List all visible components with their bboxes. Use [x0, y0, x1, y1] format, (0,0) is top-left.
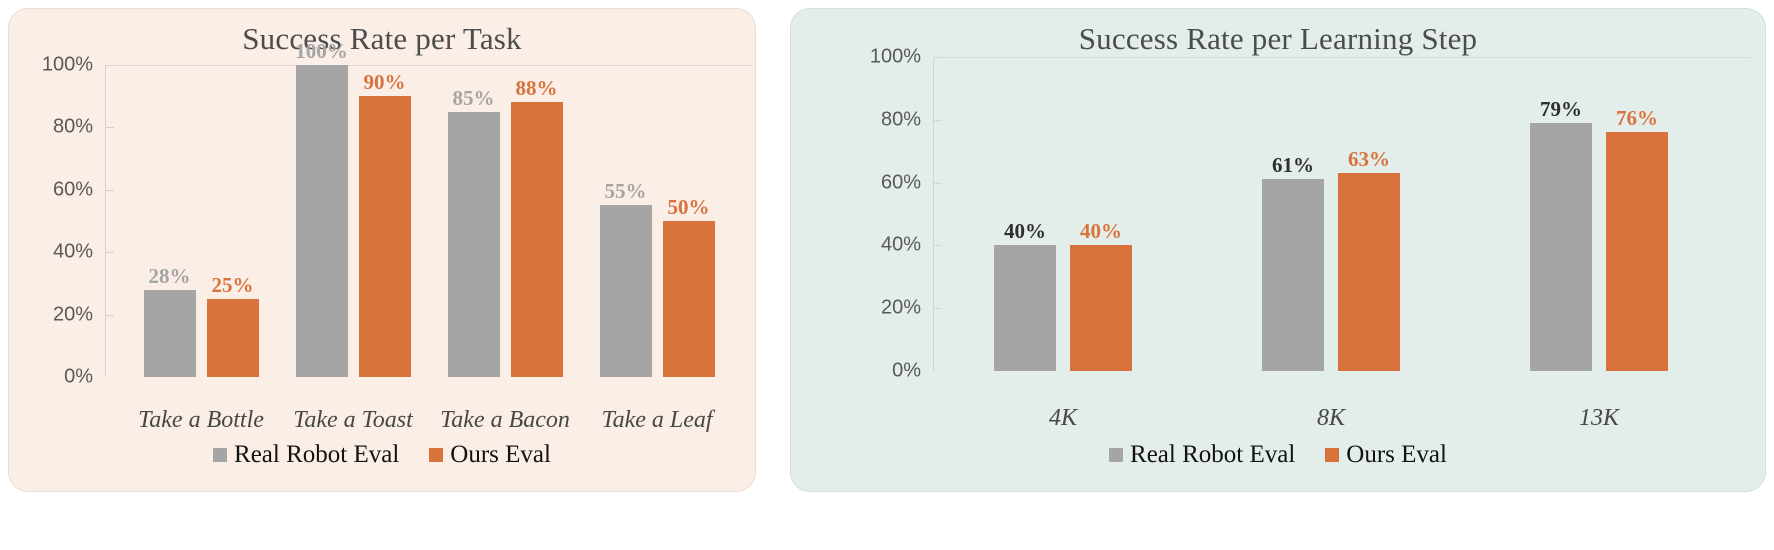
bar-value-label: 79%: [1540, 97, 1582, 122]
bar-value-label: 61%: [1272, 153, 1314, 178]
bar-ours-eval[interactable]: [1070, 245, 1132, 371]
x-axis-category-label: 4K: [1049, 405, 1077, 432]
bar-value-label: 40%: [1080, 219, 1122, 244]
legend-swatch-gray-icon: [1109, 448, 1123, 462]
y-axis-tick-label: 40%: [53, 241, 93, 264]
legend-label-ours-eval: Ours Eval: [450, 441, 551, 469]
bar-value-label: 88%: [516, 76, 558, 101]
bar-real-robot-eval[interactable]: [296, 65, 348, 377]
y-axis-tick-label: 80%: [53, 116, 93, 139]
bar-value-label: 50%: [668, 195, 710, 220]
y-axis-tick-label: 60%: [881, 171, 921, 194]
bar-real-robot-eval[interactable]: [1262, 179, 1324, 371]
bar-value-label: 25%: [212, 273, 254, 298]
y-axis-tick: [933, 57, 942, 58]
y-axis-tick-label: 0%: [892, 360, 921, 383]
legend-item-ours-eval[interactable]: Ours Eval: [1325, 441, 1447, 469]
x-axis-category-label: 13K: [1579, 405, 1619, 432]
y-axis-tick: [933, 308, 942, 309]
x-axis-baseline: [933, 57, 1751, 58]
bar-ours-eval[interactable]: [359, 96, 411, 377]
chart-panel-success-rate-per-learning-step: Success Rate per Learning Step 100%80%60…: [790, 8, 1766, 492]
y-axis-tick-label: 100%: [42, 54, 93, 77]
legend-swatch-orange-icon: [429, 448, 443, 462]
bar-ours-eval[interactable]: [1338, 173, 1400, 371]
bar-value-label: 63%: [1348, 147, 1390, 172]
figure-root: Success Rate per Task 100%80%60%40%20%0%…: [0, 0, 1774, 550]
bar-ours-eval[interactable]: [207, 299, 259, 377]
legend-label-real-robot-eval: Real Robot Eval: [234, 441, 399, 469]
legend-swatch-orange-icon: [1325, 448, 1339, 462]
y-axis-line: [933, 57, 934, 371]
y-axis-tick-label: 100%: [870, 46, 921, 69]
bar-real-robot-eval[interactable]: [448, 112, 500, 377]
bar-value-label: 55%: [605, 179, 647, 204]
bar-ours-eval[interactable]: [663, 221, 715, 377]
y-axis-line: [105, 65, 106, 377]
bar-value-label: 100%: [295, 39, 348, 64]
bar-value-label: 90%: [364, 70, 406, 95]
y-axis-tick: [933, 245, 942, 246]
bar-value-label: 28%: [149, 264, 191, 289]
bar-real-robot-eval[interactable]: [1530, 123, 1592, 371]
x-axis-baseline: [105, 65, 753, 66]
y-axis-tick: [933, 183, 942, 184]
legend-learning-step: Real Robot Eval Ours Eval: [791, 441, 1765, 469]
bar-ours-eval[interactable]: [511, 102, 563, 377]
legend-label-real-robot-eval: Real Robot Eval: [1130, 441, 1295, 469]
legend-item-real-robot-eval[interactable]: Real Robot Eval: [213, 441, 399, 469]
y-axis-tick-label: 40%: [881, 234, 921, 257]
chart-title-task: Success Rate per Task: [9, 21, 755, 57]
y-axis-tick-label: 0%: [64, 366, 93, 389]
chart-title-learning-step: Success Rate per Learning Step: [791, 21, 1765, 57]
y-axis-tick: [105, 127, 114, 128]
bar-real-robot-eval[interactable]: [600, 205, 652, 377]
chart-panel-success-rate-per-task: Success Rate per Task 100%80%60%40%20%0%…: [8, 8, 756, 492]
bar-real-robot-eval[interactable]: [144, 290, 196, 377]
y-axis-tick: [105, 65, 114, 66]
y-axis-tick-label: 60%: [53, 178, 93, 201]
bar-value-label: 40%: [1004, 219, 1046, 244]
legend-task: Real Robot Eval Ours Eval: [9, 441, 755, 469]
y-axis-tick: [105, 190, 114, 191]
x-axis-category-label: Take a Leaf: [601, 407, 712, 434]
y-axis-tick-label: 80%: [881, 108, 921, 131]
y-axis-tick-label: 20%: [53, 303, 93, 326]
bar-value-label: 76%: [1616, 106, 1658, 131]
plot-area-task: 100%80%60%40%20%0%28%25%Take a Bottle100…: [105, 65, 745, 377]
x-axis-category-label: Take a Bottle: [138, 407, 264, 434]
bar-value-label: 85%: [453, 86, 495, 111]
y-axis-tick: [933, 120, 942, 121]
legend-swatch-gray-icon: [213, 448, 227, 462]
y-axis-tick: [105, 315, 114, 316]
legend-item-real-robot-eval[interactable]: Real Robot Eval: [1109, 441, 1295, 469]
y-axis-tick: [105, 252, 114, 253]
bar-ours-eval[interactable]: [1606, 132, 1668, 371]
legend-label-ours-eval: Ours Eval: [1346, 441, 1447, 469]
x-axis-category-label: Take a Toast: [293, 407, 413, 434]
legend-item-ours-eval[interactable]: Ours Eval: [429, 441, 551, 469]
plot-area-learning-step: 100%80%60%40%20%0%40%40%4K61%63%8K79%76%…: [933, 57, 1743, 371]
x-axis-category-label: 8K: [1317, 405, 1345, 432]
bar-real-robot-eval[interactable]: [994, 245, 1056, 371]
y-axis-tick-label: 20%: [881, 297, 921, 320]
x-axis-category-label: Take a Bacon: [440, 407, 570, 434]
